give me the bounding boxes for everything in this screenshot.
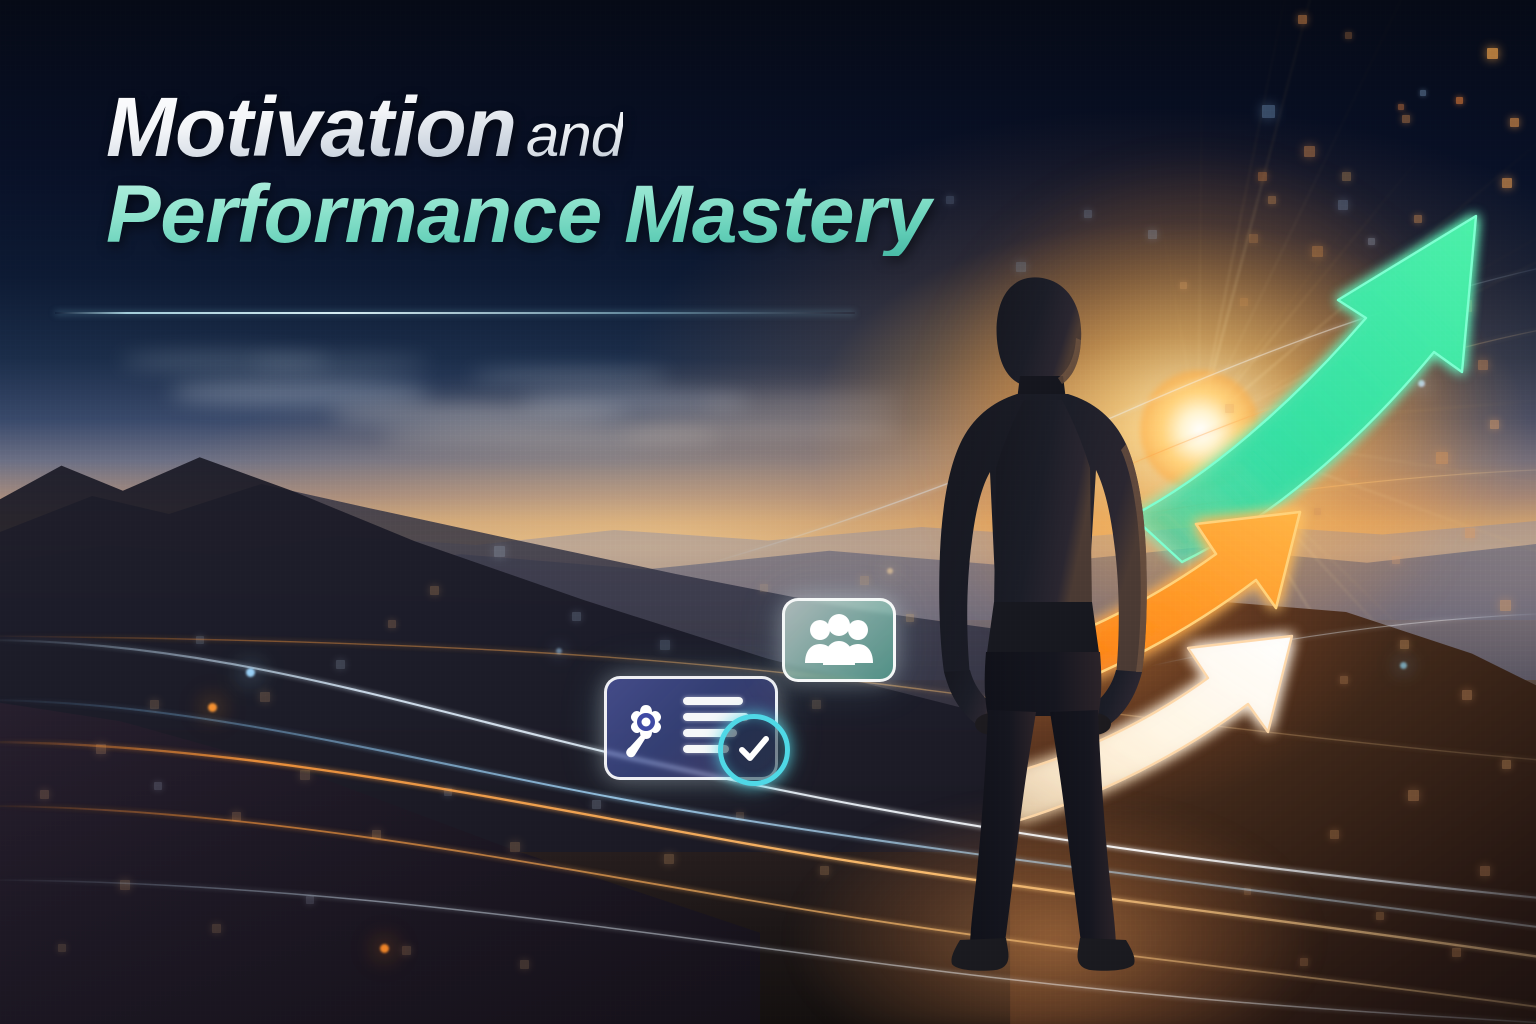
gear-icon [621, 699, 671, 761]
hero-banner: Motivationand Performance Mastery [0, 0, 1536, 1024]
headline-block: Motivationand Performance Mastery [106, 86, 1006, 256]
people-group-icon [801, 613, 877, 667]
title-underline [55, 312, 855, 314]
check-circle-icon[interactable] [718, 714, 790, 786]
title-line-two: Performance Mastery [106, 174, 1006, 256]
title-word-and: and [526, 102, 623, 169]
title-line-one: Motivationand [106, 86, 1006, 168]
team-card[interactable] [782, 598, 896, 682]
card-line [683, 697, 743, 705]
title-word-motivation: Motivation [106, 80, 516, 174]
checkmark-glyph [737, 733, 771, 767]
